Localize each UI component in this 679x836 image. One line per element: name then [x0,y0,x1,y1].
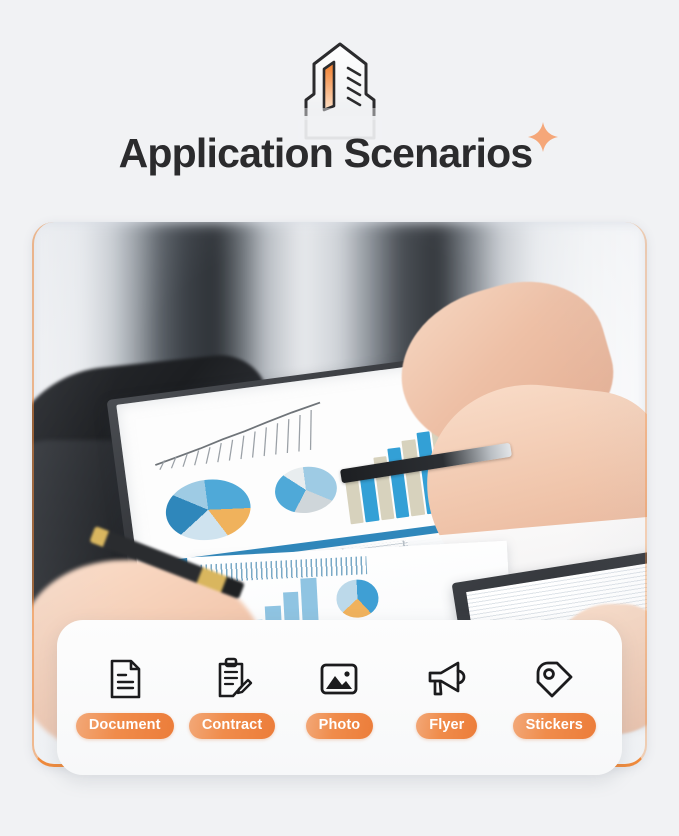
feature-photo[interactable]: Photo [286,656,392,739]
feature-label-contract[interactable]: Contract [189,713,275,739]
tag-icon [531,656,577,702]
feature-label-photo[interactable]: Photo [306,713,374,739]
feature-stickers[interactable]: Stickers [501,656,607,739]
image-icon [316,656,362,702]
building-icon [274,38,406,143]
feature-flyer[interactable]: Flyer [394,656,500,739]
page-title: Application Scenarios [0,132,679,175]
feature-label-stickers[interactable]: Stickers [513,713,596,739]
feature-document[interactable]: Document [72,656,178,739]
page-root: Application Scenarios [0,0,679,836]
clipboard-pen-icon [209,656,255,702]
megaphone-icon [424,656,470,702]
document-icon [102,656,148,702]
feature-contract[interactable]: Contract [179,656,285,739]
feature-label-flyer[interactable]: Flyer [416,713,477,739]
feature-label-document[interactable]: Document [76,713,174,739]
page-title-text: Application Scenarios [119,132,533,175]
feature-panel: Document Contract Photo [57,620,622,775]
sparkle-icon [526,120,560,154]
header: Application Scenarios [0,0,679,215]
